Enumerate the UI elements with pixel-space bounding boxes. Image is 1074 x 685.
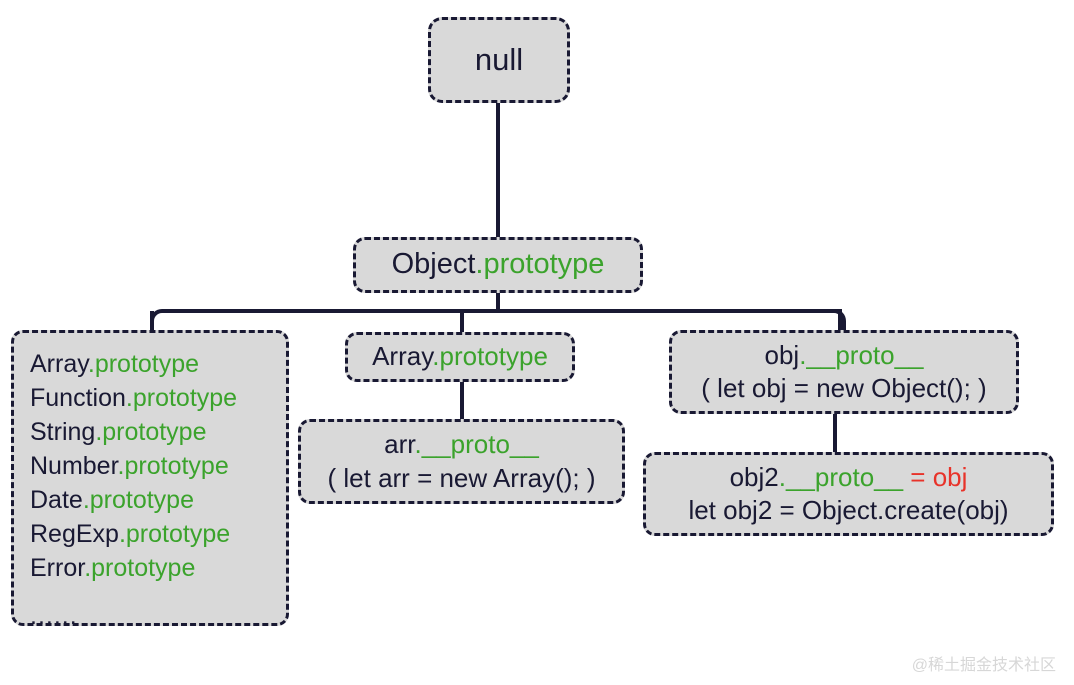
builtin-prototype-entry: Error.prototype (30, 551, 195, 585)
builtin-prototype-entry: Date.prototype (30, 483, 194, 517)
builtin-prototype-entry: Function.prototype (30, 381, 237, 415)
connector-null-to-object-prototype (496, 100, 500, 240)
node-object-prototype-label: Object.prototype (392, 246, 605, 283)
object-prototype-member: .prototype (475, 248, 604, 280)
node-null[interactable]: null (428, 17, 570, 103)
connector-object-prototype-stem (496, 291, 500, 311)
builtin-prototypes-ellipsis: ...... (30, 599, 78, 633)
node-null-label: null (475, 40, 523, 80)
node-obj-proto-label: obj.__proto__ (764, 339, 923, 372)
builtin-entry-member: .prototype (126, 384, 237, 412)
obj2-proto-detail: let obj2 = Object.create(obj) (688, 494, 1008, 527)
node-array-prototype-label: Array.prototype (372, 340, 548, 373)
arr-proto-owner: arr (384, 429, 414, 459)
node-array-prototype[interactable]: Array.prototype (345, 332, 575, 382)
obj-proto-detail: ( let obj = new Object(); ) (701, 372, 986, 405)
arr-proto-member: .__proto__ (415, 429, 539, 459)
builtin-entry-member: .prototype (84, 554, 195, 582)
node-obj-proto[interactable]: obj.__proto__ ( let obj = new Object(); … (669, 330, 1019, 414)
builtin-prototype-entry: Number.prototype (30, 449, 229, 483)
arr-proto-detail: ( let arr = new Array(); ) (328, 462, 596, 495)
builtin-prototype-entry: String.prototype (30, 415, 207, 449)
builtin-entry-owner: Date (30, 486, 83, 514)
builtin-entry-member: .prototype (118, 452, 229, 480)
builtin-entry-owner: Function (30, 384, 126, 412)
connector-branch-bus (170, 309, 842, 313)
obj2-proto-assignment: = obj (903, 462, 967, 492)
object-prototype-owner: Object (392, 248, 476, 280)
obj2-proto-owner: obj2 (730, 462, 779, 492)
node-arr-proto[interactable]: arr.__proto__ ( let arr = new Array(); ) (298, 419, 625, 504)
builtin-entry-owner: Number (30, 452, 118, 480)
array-prototype-member: .prototype (432, 341, 548, 371)
node-obj2-proto[interactable]: obj2.__proto__ = obj let obj2 = Object.c… (643, 452, 1054, 536)
builtin-entry-member: .prototype (83, 486, 194, 514)
connector-array-prototype-to-arr (460, 380, 464, 422)
builtin-entry-member: .prototype (95, 418, 206, 446)
builtin-entry-owner: RegExp (30, 520, 119, 548)
array-prototype-owner: Array (372, 341, 432, 371)
builtin-entry-owner: Error (30, 554, 84, 582)
builtin-entry-member: .prototype (88, 350, 199, 378)
builtin-prototype-entry: RegExp.prototype (30, 517, 230, 551)
obj2-proto-member: .__proto__ (779, 462, 903, 492)
node-builtin-prototypes[interactable]: Array.prototype Function.prototype Strin… (11, 330, 289, 626)
obj-proto-member: .__proto__ (799, 340, 923, 370)
connector-branch-right (838, 311, 842, 332)
connector-branch-left (150, 311, 154, 332)
watermark: @稀土掘金技术社区 (912, 651, 1056, 675)
node-arr-proto-label: arr.__proto__ (384, 428, 539, 461)
diagram-canvas: null Object.prototype Array.prototype Fu… (0, 0, 1074, 685)
connector-obj-to-obj2 (833, 411, 837, 455)
builtin-entry-member: .prototype (119, 520, 230, 548)
node-object-prototype[interactable]: Object.prototype (353, 237, 643, 293)
obj-proto-owner: obj (764, 340, 799, 370)
node-obj2-proto-label: obj2.__proto__ = obj (730, 461, 968, 494)
connector-branch-middle (460, 311, 464, 332)
builtin-entry-owner: String (30, 418, 95, 446)
builtin-prototype-entry: Array.prototype (30, 347, 199, 381)
builtin-entry-owner: Array (30, 350, 88, 378)
